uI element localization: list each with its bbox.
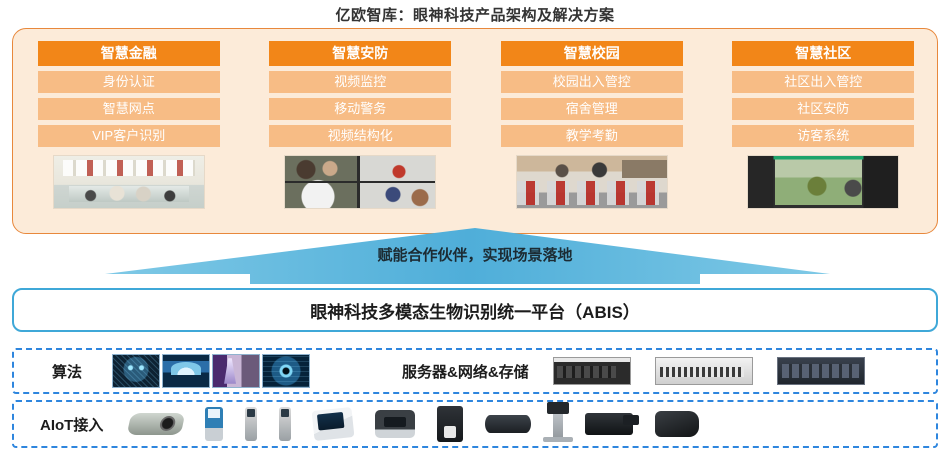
- infra-row-aiot: AIoT接入: [12, 400, 938, 448]
- storage-array-icon: [777, 357, 865, 385]
- algorithm-label: 算法: [52, 361, 82, 382]
- scenario-column-finance: 智慧金融 身份认证 智慧网点 VIP客户识别: [31, 41, 227, 209]
- face-terminal-icon: [375, 410, 415, 438]
- page-title: 亿欧智库：眼神科技产品架构及解决方案: [0, 4, 950, 25]
- scenario-column-campus: 智慧校园 校园出入管控 宿舍管理 教学考勤: [494, 41, 690, 209]
- scenario-header-finance[interactable]: 智慧金融: [38, 41, 220, 66]
- face-recognition-icon: [112, 354, 160, 388]
- scenario-item[interactable]: 宿舍管理: [501, 98, 683, 120]
- scenario-panel: 智慧金融 身份认证 智慧网点 VIP客户识别 智慧安防 视频监控 移动警务 视频…: [12, 28, 938, 234]
- algorithm-thumbnails: [112, 354, 310, 388]
- camera-stand-icon: [553, 406, 563, 442]
- network-switch-icon: [655, 357, 753, 385]
- scenario-item[interactable]: 智慧网点: [38, 98, 220, 120]
- abis-platform-bar[interactable]: 眼神科技多模态生物识别统一平台（ABIS）: [12, 288, 938, 332]
- scenario-photo-campus: [516, 155, 668, 209]
- kiosk-terminal-icon: [205, 407, 223, 441]
- hardware-thumbnails: [553, 357, 865, 385]
- scenario-photo-community: [747, 155, 899, 209]
- iris-recognition-icon: [262, 354, 310, 388]
- scenario-header-community[interactable]: 智慧社区: [732, 41, 914, 66]
- scenario-columns: 智慧金融 身份认证 智慧网点 VIP客户识别 智慧安防 视频监控 移动警务 视频…: [13, 29, 939, 235]
- face-tablet-icon: [312, 407, 355, 441]
- scenario-item[interactable]: 教学考勤: [501, 125, 683, 147]
- scenario-item[interactable]: 移动警务: [269, 98, 451, 120]
- abis-platform-label: 眼神科技多模态生物识别统一平台（ABIS）: [310, 298, 640, 323]
- scenario-column-community: 智慧社区 社区出入管控 社区安防 访客系统: [725, 41, 921, 209]
- arrow-label: 赋能合作伙伴，实现场景落地: [0, 244, 950, 265]
- scenario-item[interactable]: 身份认证: [38, 71, 220, 93]
- gate-pillar-icon: [245, 407, 257, 441]
- aiot-label: AIoT接入: [40, 414, 103, 435]
- fingerprint-reader-icon: [437, 406, 463, 442]
- scenario-item[interactable]: 社区出入管控: [732, 71, 914, 93]
- camera-device-icon: [127, 413, 186, 435]
- flat-scanner-icon: [485, 415, 531, 433]
- scenario-photo-finance: [53, 155, 205, 209]
- scenario-item[interactable]: VIP客户识别: [38, 125, 220, 147]
- biometric-scanner-icon: [585, 413, 633, 435]
- fingerprint-recognition-icon: [162, 354, 210, 388]
- gate-pillar-icon-2: [279, 407, 291, 441]
- scenario-column-security: 智慧安防 视频监控 移动警务 视频结构化: [262, 41, 458, 209]
- rack-server-icon: [553, 357, 631, 385]
- scenario-item[interactable]: 访客系统: [732, 125, 914, 147]
- server-network-storage-label: 服务器&网络&存储: [402, 361, 529, 382]
- scenario-item[interactable]: 视频结构化: [269, 125, 451, 147]
- scenario-item[interactable]: 社区安防: [732, 98, 914, 120]
- enablement-arrow: 赋能合作伙伴，实现场景落地: [0, 228, 950, 284]
- palm-vein-recognition-icon: [212, 354, 260, 388]
- scenario-item[interactable]: 校园出入管控: [501, 71, 683, 93]
- aiot-device-icons: [129, 406, 936, 442]
- scenario-header-campus[interactable]: 智慧校园: [501, 41, 683, 66]
- scenario-item[interactable]: 视频监控: [269, 71, 451, 93]
- scenario-photo-security: [284, 155, 436, 209]
- scenario-header-security[interactable]: 智慧安防: [269, 41, 451, 66]
- infra-row-algorithm: 算法 服务器&网络&存储: [12, 348, 938, 394]
- handheld-device-icon: [655, 411, 699, 437]
